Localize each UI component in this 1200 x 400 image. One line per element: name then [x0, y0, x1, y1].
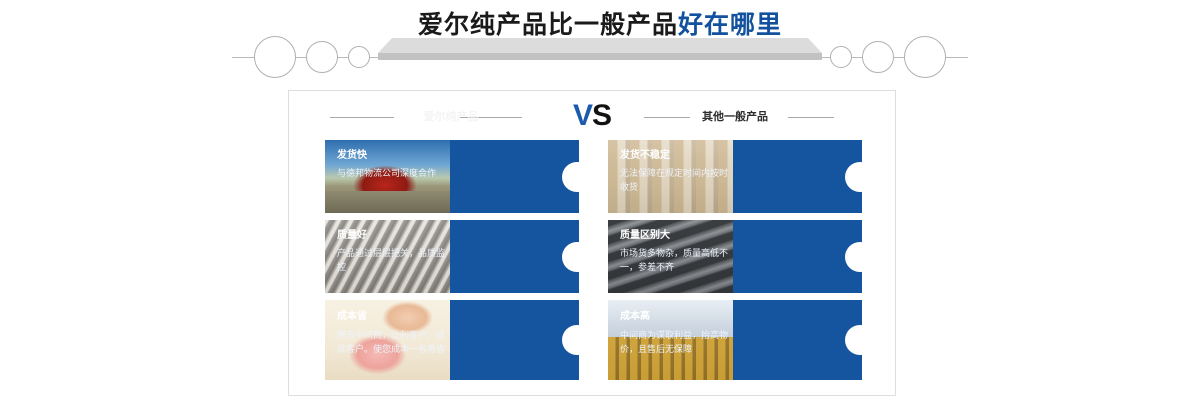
card-title: 成本省	[337, 310, 367, 323]
comparison-card-grid: 发货快 与德邦物流公司深度合作 质量好 产品通过层层把关，品质监控 成本省 略去…	[325, 140, 862, 387]
decorative-circle-right-1	[830, 46, 852, 68]
card-description: 与德邦物流公司深度合作	[337, 167, 445, 181]
card-panel	[450, 220, 579, 293]
page-title-accent: 好在哪里	[678, 10, 782, 39]
card-panel	[733, 300, 862, 380]
right-product-column: 发货不稳定 无法保障在规定时间内按时收货 质量区别大 市场货多物杂，质量高低不一…	[608, 140, 862, 387]
drawback-card-delivery[interactable]: 发货不稳定 无法保障在规定时间内按时收货	[608, 140, 862, 213]
advantage-card-quality[interactable]: 质量好 产品通过层层把关，品质监控	[325, 220, 579, 293]
title-ribbon-bottom	[378, 53, 822, 60]
card-title: 发货快	[337, 149, 367, 162]
decorative-circle-left-1	[254, 36, 296, 78]
drawback-card-cost[interactable]: 成本高 中间商为谋取利益，抬高物价，且售后无保障	[608, 300, 862, 380]
decorative-circle-right-3	[904, 36, 946, 78]
versus-letter-v: V	[573, 99, 592, 132]
card-title: 质量好	[337, 229, 367, 242]
page-title-main: 爱尔纯产品比一般产品	[418, 10, 678, 39]
left-product-column: 发货快 与德邦物流公司深度合作 质量好 产品通过层层把关，品质监控 成本省 略去…	[325, 140, 579, 387]
page-title: 爱尔纯产品比一般产品好在哪里	[0, 8, 1200, 42]
drawback-card-quality[interactable]: 质量区别大 市场货多物杂，质量高低不一，参差不齐	[608, 220, 862, 293]
card-description: 产品通过层层把关，品质监控	[337, 247, 445, 275]
card-description: 市场货多物杂，质量高低不一，参差不齐	[620, 247, 728, 275]
advantage-card-delivery[interactable]: 发货快 与德邦物流公司深度合作	[325, 140, 579, 213]
right-label-line-2	[788, 117, 834, 118]
card-panel	[450, 300, 579, 380]
card-description: 略去中间商，让利客户，成就客户。使您成本一省再省	[337, 329, 445, 357]
decorative-circle-left-2	[306, 41, 338, 73]
advantage-card-cost[interactable]: 成本省 略去中间商，让利客户，成就客户。使您成本一省再省	[325, 300, 579, 380]
card-panel	[733, 220, 862, 293]
card-title: 发货不稳定	[620, 149, 670, 162]
card-description: 无法保障在规定时间内按时收货	[620, 167, 728, 195]
card-title: 质量区别大	[620, 229, 670, 242]
card-description: 中间商为谋取利益，抬高物价，且售后无保障	[620, 329, 728, 357]
decorative-circle-right-2	[862, 41, 894, 73]
card-panel	[733, 140, 862, 213]
versus-header-row: 爱尔纯产品 VS 其他一般产品	[288, 98, 896, 140]
card-title: 成本高	[620, 310, 650, 323]
card-panel	[450, 140, 579, 213]
page-header: 爱尔纯产品比一般产品好在哪里	[0, 0, 1200, 85]
decorative-circle-left-3	[348, 46, 370, 68]
versus-letter-s: S	[592, 99, 611, 132]
